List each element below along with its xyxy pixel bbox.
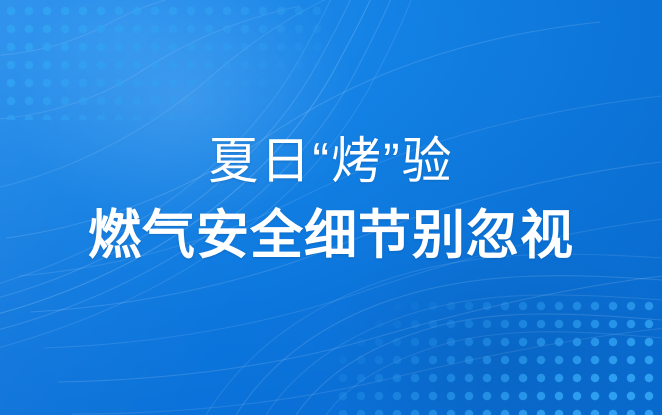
dot-grid-bottom-right	[332, 295, 662, 415]
dot-grid-top-left	[0, 0, 330, 120]
gas-safety-banner: 夏日“烤”验 燃气安全细节别忽视	[0, 0, 662, 415]
headline-line-2: 燃气安全细节别忽视	[0, 205, 662, 268]
headline-block: 夏日“烤”验 燃气安全细节别忽视	[0, 132, 662, 268]
headline-line-1: 夏日“烤”验	[0, 132, 662, 191]
